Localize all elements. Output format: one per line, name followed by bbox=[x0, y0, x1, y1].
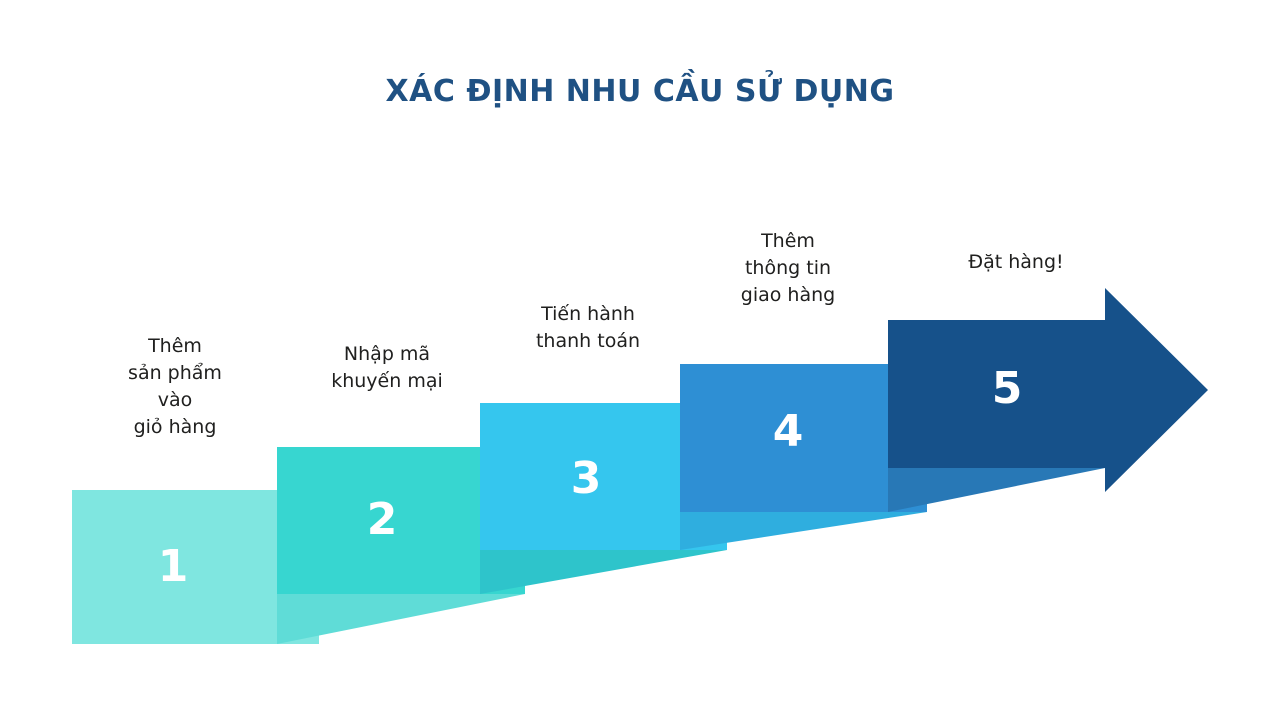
step-5-number: 5 bbox=[982, 367, 1032, 411]
step-4-shadow bbox=[680, 512, 927, 550]
step-4-caption: Thêm thông tin giao hàng bbox=[693, 228, 883, 309]
infographic-canvas: XÁC ĐỊNH NHU CẦU SỬ DỤNG 1 2 3 4 5 Thêm … bbox=[0, 0, 1280, 720]
step-3-caption: Tiến hành thanh toán bbox=[493, 301, 683, 355]
step-5-arrow[interactable] bbox=[888, 288, 1208, 492]
step-1-caption: Thêm sản phẩm vào giỏ hàng bbox=[85, 333, 265, 441]
step-4-number: 4 bbox=[763, 410, 813, 454]
step-3-number: 3 bbox=[561, 457, 611, 501]
step-1-number: 1 bbox=[148, 545, 198, 589]
step-5-caption: Đặt hàng! bbox=[921, 249, 1111, 276]
step-2-number: 2 bbox=[357, 498, 407, 542]
step-5-shadow bbox=[888, 468, 1105, 512]
step-2-caption: Nhập mã khuyến mại bbox=[292, 341, 482, 395]
